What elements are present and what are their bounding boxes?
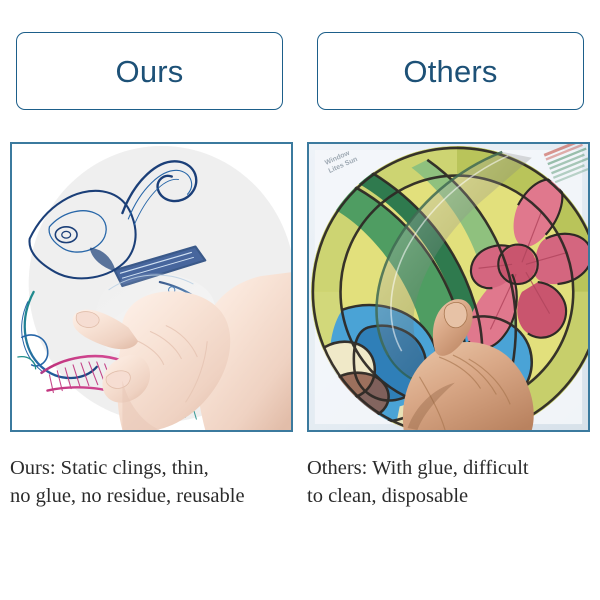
caption-ours: Ours: Static clings, thin, no glue, no r… bbox=[10, 455, 293, 510]
caption-ours-line-2: no glue, no residue, reusable bbox=[10, 483, 287, 511]
photo-ours bbox=[10, 142, 293, 432]
photo-others: Window Lites Sun bbox=[307, 142, 590, 432]
caption-others: Others: With glue, difficult to clean, d… bbox=[307, 455, 590, 510]
static-cling-octopus-illustration bbox=[12, 144, 291, 430]
caption-ours-line-1: Ours: Static clings, thin, bbox=[10, 455, 287, 483]
stained-glass-cling-illustration: Window Lites Sun bbox=[309, 144, 588, 430]
photo-row: Window Lites Sun bbox=[0, 142, 600, 434]
header-row: Ours Others bbox=[0, 32, 600, 112]
caption-row: Ours: Static clings, thin, no glue, no r… bbox=[0, 455, 600, 510]
tab-ours[interactable]: Ours bbox=[16, 32, 283, 110]
tab-others[interactable]: Others bbox=[317, 32, 584, 110]
tab-ours-label: Ours bbox=[116, 56, 184, 87]
comparison-page: Ours Others bbox=[0, 0, 600, 600]
caption-others-line-1: Others: With glue, difficult bbox=[307, 455, 584, 483]
tab-others-label: Others bbox=[403, 56, 497, 87]
caption-others-line-2: to clean, disposable bbox=[307, 483, 584, 511]
